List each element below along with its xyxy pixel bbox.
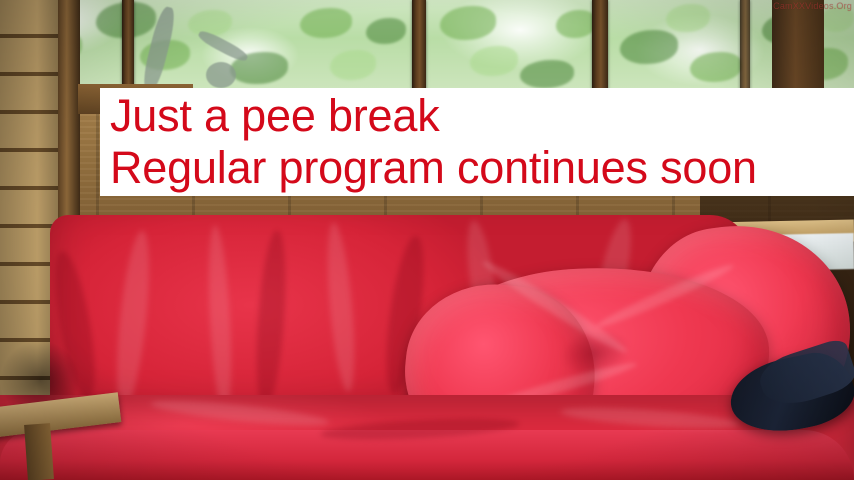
text-banner-overlay: Just a pee break Regular program continu… xyxy=(100,88,854,196)
window-foliage-band xyxy=(0,0,854,96)
tree-branch xyxy=(206,62,236,88)
window-mullion xyxy=(740,0,750,96)
site-watermark: CamXXVideos.Org xyxy=(773,1,852,11)
banner-line-2: Regular program continues soon xyxy=(110,142,854,194)
video-frame: Just a pee break Regular program continu… xyxy=(0,0,854,480)
window-mullion xyxy=(592,0,608,96)
window-frame-post xyxy=(772,0,824,96)
window-mullion xyxy=(122,0,134,96)
banner-line-1: Just a pee break xyxy=(110,90,854,142)
wooden-bench-leg xyxy=(24,423,54,480)
tree-branch xyxy=(196,28,249,64)
window-mullion xyxy=(412,0,426,96)
